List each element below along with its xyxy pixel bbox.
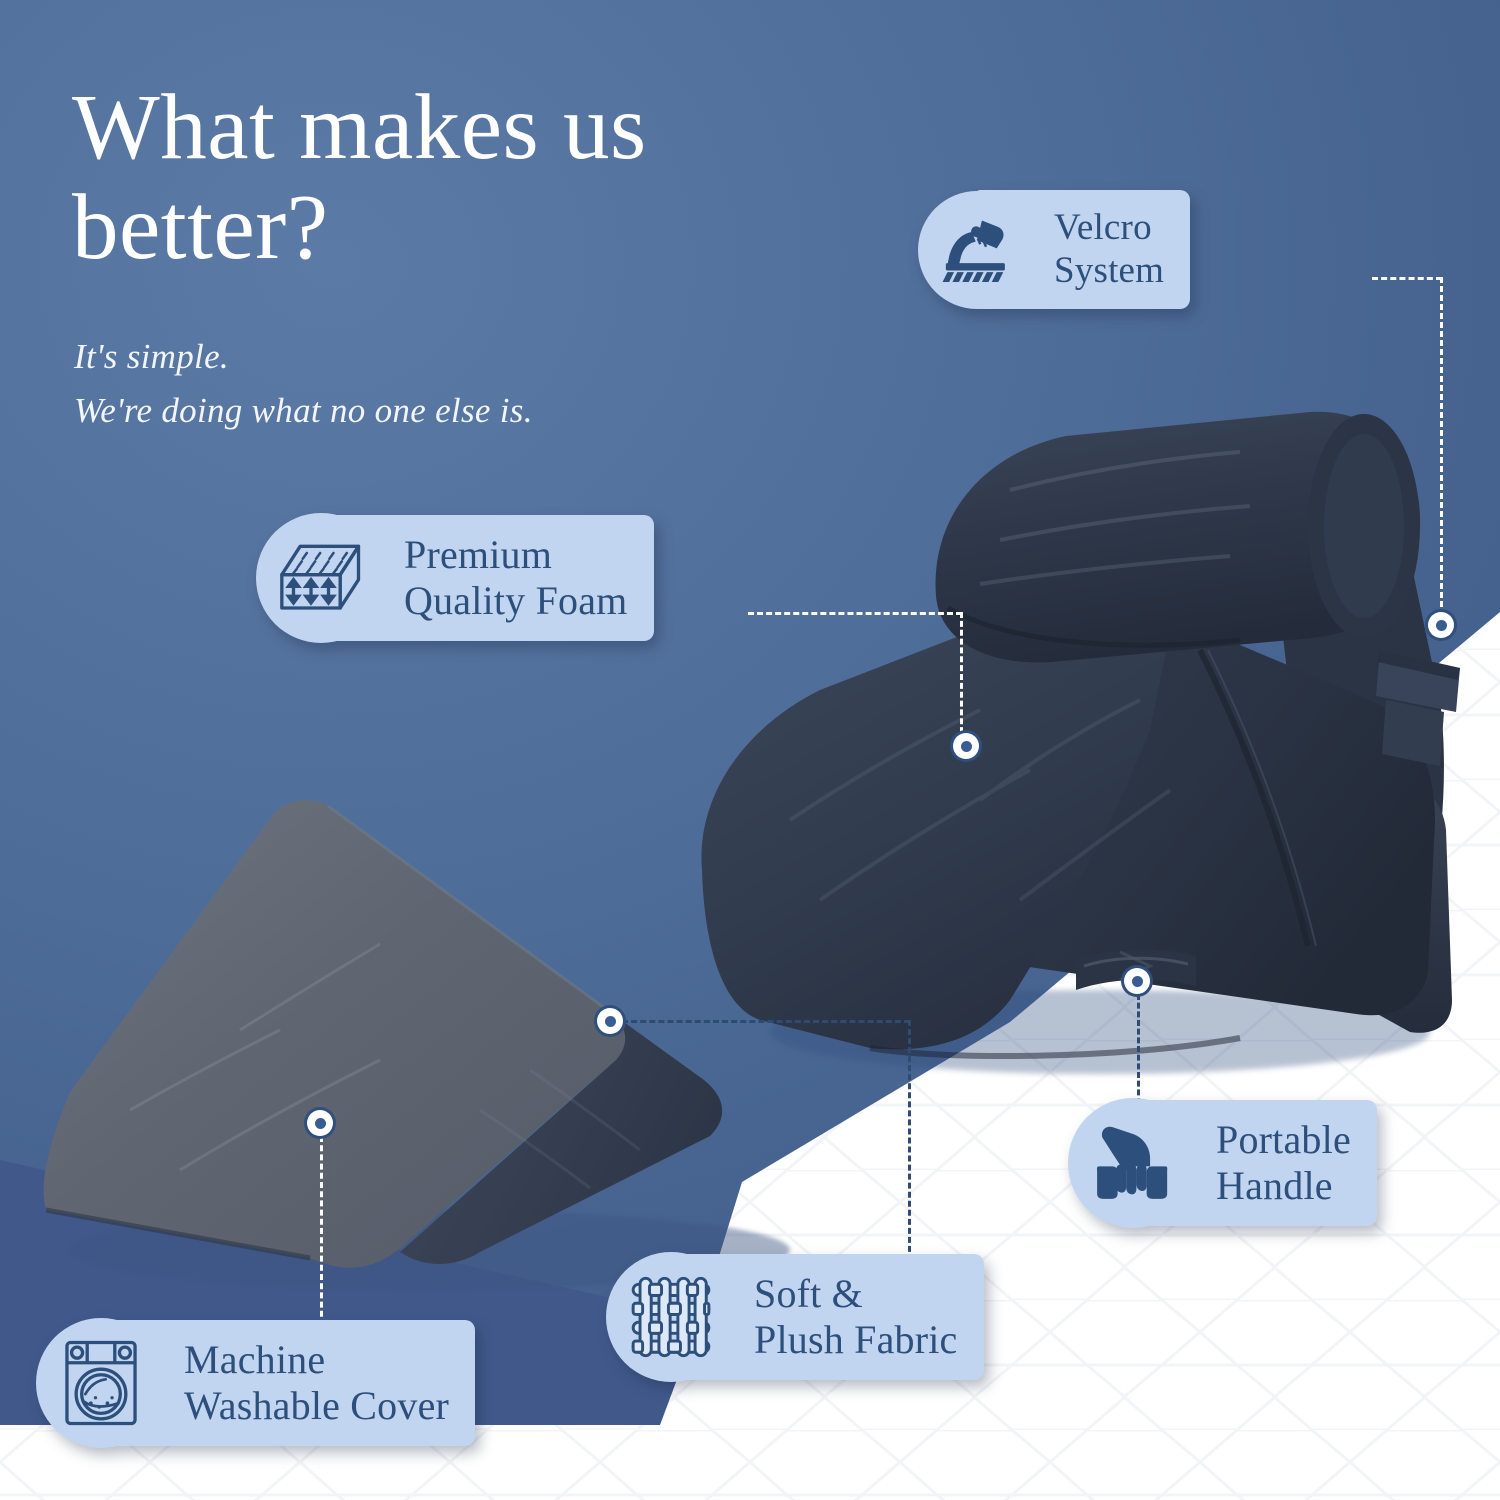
- feature-badge-washable[interactable]: MachineWashable Cover: [36, 1318, 475, 1448]
- feature-label-handle-line2: Handle: [1216, 1163, 1333, 1208]
- velcro-hand-icon: [936, 209, 1018, 291]
- feature-icon-wrapper-fabric: [606, 1252, 736, 1382]
- feature-icon-wrapper-foam: [256, 513, 386, 643]
- page-title: What makes us better?: [72, 78, 972, 279]
- feature-label-handle-line1: Portable: [1216, 1117, 1351, 1162]
- page-subtitle-line1: It's simple.: [74, 330, 894, 384]
- woven-fabric-icon: [628, 1274, 714, 1360]
- feature-badge-velcro[interactable]: VelcroSystem: [918, 190, 1190, 309]
- hotspot-dot-handle[interactable]: [1124, 968, 1150, 994]
- feature-label-foam-line2: Quality Foam: [404, 578, 628, 623]
- page-subtitle: It's simple. We're doing what no one els…: [74, 330, 894, 439]
- feature-label-velcro: VelcroSystem: [1054, 207, 1164, 292]
- feature-icon-wrapper-velcro: [918, 191, 1036, 309]
- feature-label-washable-line1: Machine: [184, 1337, 325, 1382]
- infographic-canvas: What makes us better? It's simple. We're…: [0, 0, 1500, 1500]
- feature-label-fabric: Soft &Plush Fabric: [754, 1271, 958, 1363]
- grip-hand-icon: [1090, 1122, 1176, 1204]
- hotspot-dot-washable[interactable]: [307, 1110, 333, 1136]
- feature-label-washable: MachineWashable Cover: [184, 1337, 449, 1429]
- feature-badge-fabric[interactable]: Soft &Plush Fabric: [606, 1252, 984, 1382]
- hotspot-dot-fabric[interactable]: [597, 1008, 623, 1034]
- feature-label-velcro-line1: Velcro: [1054, 207, 1152, 248]
- hotspot-dot-velcro[interactable]: [1428, 612, 1454, 638]
- foam-slab-icon: [275, 538, 367, 618]
- feature-label-washable-line2: Washable Cover: [184, 1383, 449, 1428]
- feature-label-fabric-line2: Plush Fabric: [754, 1317, 958, 1362]
- feature-label-velcro-line2: System: [1054, 250, 1164, 291]
- page-title-line1: What makes us: [72, 78, 972, 178]
- feature-badge-foam[interactable]: PremiumQuality Foam: [256, 513, 654, 643]
- washing-machine-icon: [61, 1337, 141, 1429]
- feature-label-handle: PortableHandle: [1216, 1117, 1351, 1209]
- feature-badge-handle[interactable]: PortableHandle: [1068, 1098, 1377, 1228]
- feature-icon-wrapper-handle: [1068, 1098, 1198, 1228]
- product-image-main-wedge-set: [680, 400, 1500, 1100]
- page-title-line2: better?: [72, 178, 972, 278]
- page-subtitle-line2: We're doing what no one else is.: [74, 384, 894, 438]
- feature-label-foam-line1: Premium: [404, 532, 552, 577]
- feature-label-foam: PremiumQuality Foam: [404, 532, 628, 624]
- hotspot-dot-foam[interactable]: [953, 733, 979, 759]
- feature-label-fabric-line1: Soft &: [754, 1271, 863, 1316]
- feature-icon-wrapper-washable: [36, 1318, 166, 1448]
